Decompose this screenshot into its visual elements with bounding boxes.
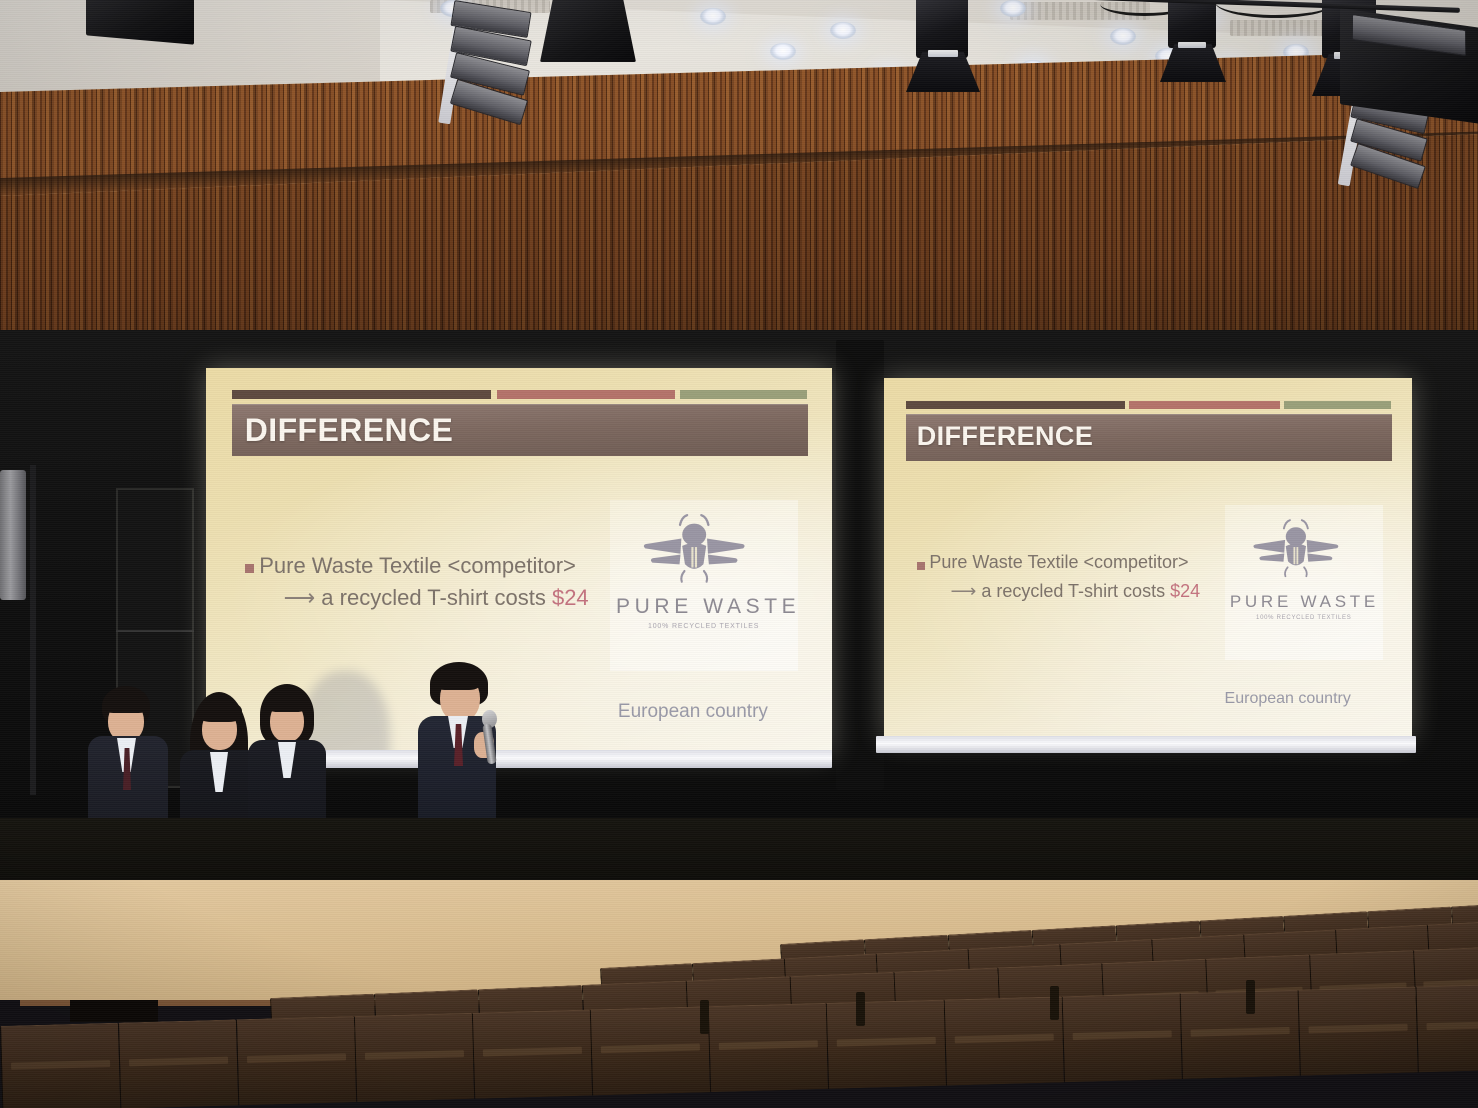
seat[interactable] [590, 1006, 710, 1095]
sub-line-text: a recycled T-shirt costs [981, 581, 1170, 601]
price-value: $24 [552, 585, 589, 610]
screen-hem-right [876, 736, 1416, 753]
seat-leg [700, 1000, 709, 1034]
accent-segment-2 [497, 390, 676, 399]
fringe [198, 700, 242, 722]
seat[interactable] [0, 1023, 120, 1108]
projection-screen-right: DIFFERENCE Pure Waste Textile <competito… [884, 378, 1412, 740]
fringe [266, 692, 308, 712]
seat-leg [856, 992, 865, 1026]
seat[interactable] [1415, 983, 1478, 1072]
downlight [830, 22, 856, 39]
sub-line: ⟶ a recycled T-shirt costs $24 [284, 585, 589, 611]
arrow-icon: ⟶ [284, 585, 316, 610]
seat-leg [1246, 980, 1255, 1014]
stage-front-edge [0, 818, 1478, 888]
backdrop-panel-seam [116, 630, 194, 632]
seat[interactable] [708, 1003, 828, 1092]
seat[interactable] [1180, 990, 1300, 1079]
arrow-icon: ⟶ [951, 581, 977, 601]
downlight [770, 43, 796, 60]
accent-bar-row [232, 390, 808, 399]
sub-line-text: a recycled T-shirt costs [321, 585, 552, 610]
seat[interactable] [944, 996, 1064, 1085]
accent-bar-row [906, 401, 1392, 409]
bullet-marker [917, 562, 925, 570]
fringe [434, 668, 480, 690]
seat[interactable] [236, 1016, 356, 1105]
auditorium-photo: DIFFERENCE Pure Waste Textile <competito… [0, 0, 1478, 1108]
wall-speaker [0, 470, 26, 600]
seat[interactable] [472, 1010, 592, 1099]
downlight [1110, 28, 1136, 45]
slide-right: DIFFERENCE Pure Waste Textile <competito… [884, 378, 1412, 740]
accent-segment-2 [1129, 401, 1280, 409]
seat[interactable] [826, 1000, 946, 1089]
price-value: $24 [1170, 581, 1200, 601]
seat[interactable] [1062, 993, 1182, 1082]
accent-segment-1 [906, 401, 1125, 409]
bullet-text: Pure Waste Textile <competitor> [259, 553, 576, 579]
seat-leg [1050, 986, 1059, 1020]
fringe [105, 696, 147, 713]
logo-wordmark: PURE WASTE [616, 595, 791, 619]
pure-waste-beetle-icon [641, 512, 747, 586]
slide-caption: European country [618, 701, 768, 723]
stage-light-lens [1178, 42, 1206, 48]
slide-title: DIFFERENCE [917, 421, 1094, 452]
slide-caption: European country [1225, 690, 1351, 708]
accent-segment-3 [680, 390, 807, 399]
logo-tagline: 100% RECYCLED TEXTILES [1230, 615, 1378, 621]
speaker-shroud-left [540, 0, 636, 62]
stage-light [1168, 0, 1216, 48]
speaker-pole [30, 465, 36, 795]
bullet-text: Pure Waste Textile <competitor> [929, 552, 1188, 573]
seat[interactable] [1297, 986, 1417, 1075]
logo-tagline: 100% RECYCLED TEXTILES [616, 623, 791, 630]
downlight [1000, 0, 1026, 17]
backdrop-block-center [836, 340, 884, 790]
seat[interactable] [354, 1013, 474, 1102]
pure-waste-beetle-icon [1251, 516, 1341, 581]
downlight [700, 8, 726, 25]
accent-segment-3 [1284, 401, 1391, 409]
bullet-marker [245, 564, 254, 573]
seat[interactable] [118, 1019, 238, 1108]
stage-light-lens [928, 50, 958, 57]
slide-title: DIFFERENCE [245, 412, 453, 449]
sub-line: ⟶ a recycled T-shirt costs $24 [951, 581, 1201, 602]
logo-wordmark: PURE WASTE [1230, 592, 1378, 612]
accent-segment-1 [232, 390, 491, 399]
